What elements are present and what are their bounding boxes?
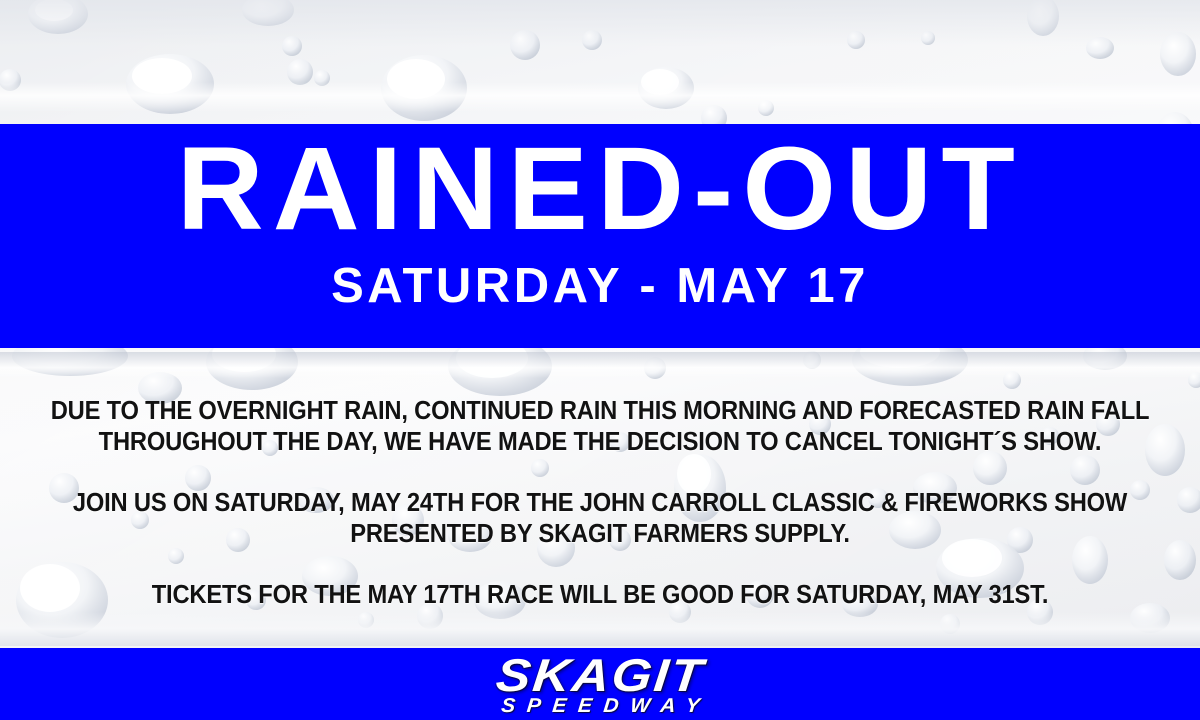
footer-banner: SKAGIT SPEEDWAY <box>0 648 1200 720</box>
logo-primary-text: SKAGIT <box>479 652 720 698</box>
headline-banner: RAINED-OUT SATURDAY - MAY 17 <box>0 124 1200 348</box>
logo-secondary-text: SPEEDWAY <box>488 696 712 716</box>
rained-out-announcement-poster: RAINED-OUT SATURDAY - MAY 17 DUE TO THE … <box>0 0 1200 720</box>
announcement-body: DUE TO THE OVERNIGHT RAIN, CONTINUED RAI… <box>0 348 1200 648</box>
event-date-subtitle: SATURDAY - MAY 17 <box>331 262 869 311</box>
glass-sheen-band-upper <box>0 82 1200 112</box>
paragraph-line: JOIN US ON SATURDAY, MAY 24TH FOR THE JO… <box>42 488 1158 519</box>
paragraph-line: THROUGHOUT THE DAY, WE HAVE MADE THE DEC… <box>42 427 1158 458</box>
skagit-speedway-logo: SKAGIT SPEEDWAY <box>495 652 706 716</box>
paragraph-line: DUE TO THE OVERNIGHT RAIN, CONTINUED RAI… <box>42 396 1158 427</box>
paragraph-line: PRESENTED BY SKAGIT FARMERS SUPPLY. <box>42 519 1158 550</box>
glass-sheen-band-top <box>0 0 1200 46</box>
announcement-paragraph: JOIN US ON SATURDAY, MAY 24TH FOR THE JO… <box>42 488 1158 550</box>
announcement-paragraph: DUE TO THE OVERNIGHT RAIN, CONTINUED RAI… <box>42 396 1158 458</box>
paragraph-line: TICKETS FOR THE MAY 17TH RACE WILL BE GO… <box>42 580 1158 611</box>
announcement-paragraph: TICKETS FOR THE MAY 17TH RACE WILL BE GO… <box>42 580 1158 611</box>
page-title: RAINED-OUT <box>176 130 1023 248</box>
